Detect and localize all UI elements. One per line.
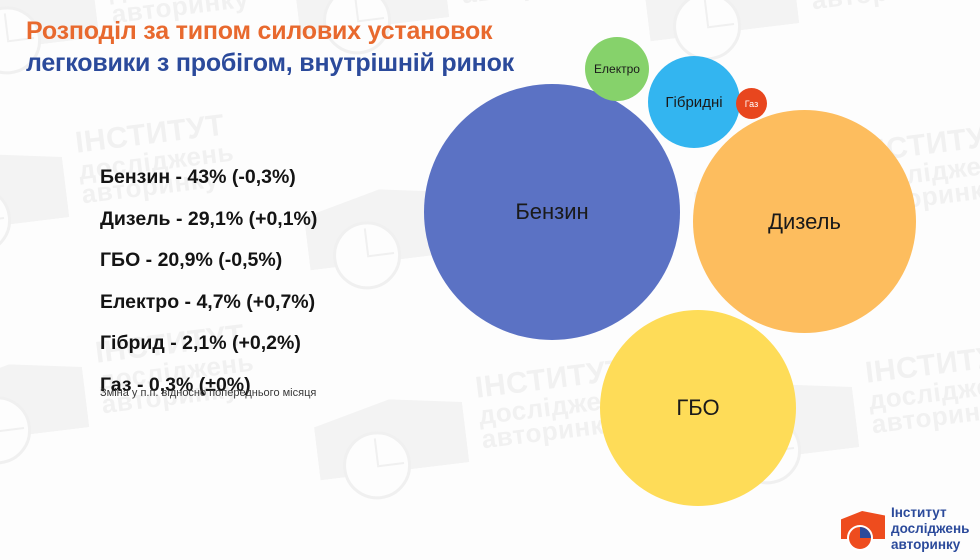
bubble-benzyn: Бензин	[424, 84, 680, 340]
bubble-haz: Газ	[736, 88, 767, 119]
chart-title-primary: Розподіл за типом силових установок	[26, 15, 514, 47]
brand-logo-line2: досліджень	[891, 521, 969, 537]
legend-item-hbo: ГБО - 20,9% (-0,5%)	[100, 251, 317, 271]
bubble-dyzel: Дизель	[693, 110, 916, 333]
legend-item-benzyn: Бензин - 43% (-0,3%)	[100, 168, 317, 188]
brand-logo-line1: Інститут	[891, 505, 969, 521]
brand-logo-line3: авторинку	[891, 537, 969, 553]
car-pie-logo-icon	[841, 507, 885, 549]
infographic-canvas: ІНСТИТУТ досліджень авторинку ІНСТИТУТ д…	[0, 0, 980, 560]
brand-logo: Інститут досліджень авторинку	[841, 505, 973, 553]
chart-title-block: Розподіл за типом силових установок легк…	[26, 15, 514, 79]
bubble-hbo: ГБО	[600, 310, 796, 506]
brand-logo-text: Інститут досліджень авторинку	[891, 505, 969, 553]
bubble-elektro: Електро	[585, 37, 649, 101]
legend-list: Бензин - 43% (-0,3%) Дизель - 29,1% (+0,…	[100, 168, 317, 395]
legend-item-dyzel: Дизель - 29,1% (+0,1%)	[100, 210, 317, 230]
chart-title-secondary: легковики з пробігом, внутрішній ринок	[26, 47, 514, 79]
legend-item-elektro: Електро - 4,7% (+0,7%)	[100, 293, 317, 313]
chart-footnote: Зміна у п.п. відносно попереднього місяц…	[100, 387, 316, 399]
bubble-hibrydni: Гібридні	[648, 56, 740, 148]
legend-item-hibryd: Гібрид - 2,1% (+0,2%)	[100, 334, 317, 354]
